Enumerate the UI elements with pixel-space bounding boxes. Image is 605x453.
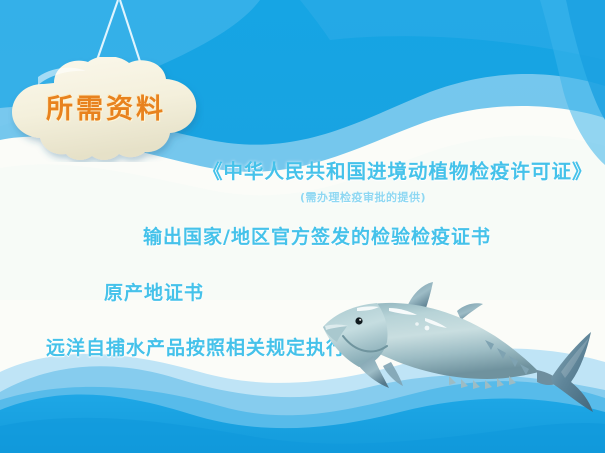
poster-canvas: 所需资料 《中华人民共和国进境动植物检疫许可证》 (需办理检疫审批的提供) 输出… [0,0,605,453]
tuna-fish-illustration [299,280,595,415]
requirement-official-cert: 输出国家/地区官方签发的检验检疫证书 [143,222,491,249]
requirement-permit-note: (需办理检疫审批的提供) [300,189,426,205]
requirement-origin-cert: 原产地证书 [104,278,204,305]
requirement-permit-title: 《中华人民共和国进境动植物检疫许可证》 [203,155,593,184]
badge-title: 所需资料 [8,87,204,126]
cloud-badge: 所需资料 [8,57,204,162]
